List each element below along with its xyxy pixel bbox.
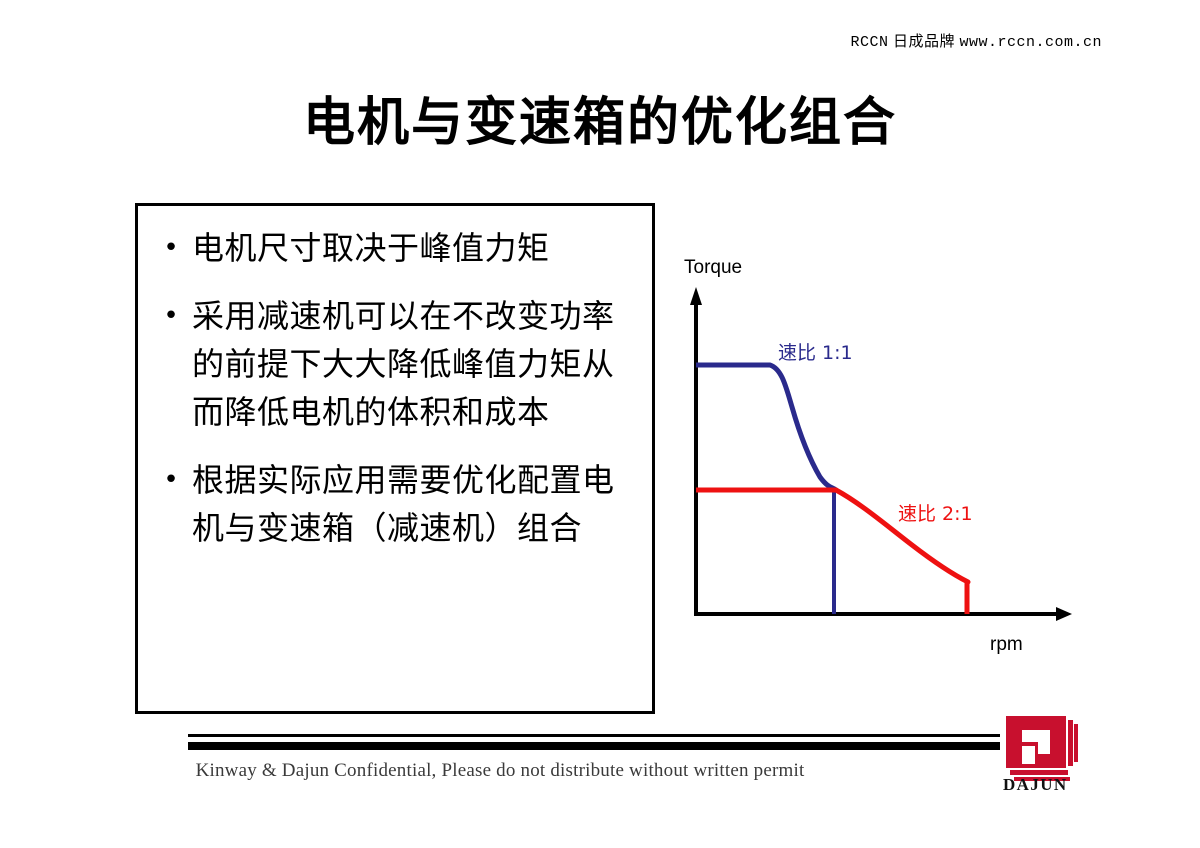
footer-divider-thin: [188, 734, 1000, 737]
header-brand-cjk: 日成品牌: [893, 32, 955, 50]
list-item: • 采用减速机可以在不改变功率的前提下大大降低峰值力矩从而降低电机的体积和成本: [150, 292, 638, 436]
x-axis-label: rpm: [990, 634, 1023, 655]
torque-speed-chart: Torque: [660, 245, 1100, 670]
list-item: • 根据实际应用需要优化配置电机与变速箱（减速机）组合: [150, 456, 638, 552]
header-brand-code: RCCN: [850, 34, 888, 51]
dajun-wordmark: DAJUN: [1003, 775, 1068, 792]
bullet-text: 采用减速机可以在不改变功率的前提下大大降低峰值力矩从而降低电机的体积和成本: [192, 292, 638, 436]
bullet-marker-icon: •: [150, 456, 192, 504]
bullet-text: 根据实际应用需要优化配置电机与变速箱（减速机）组合: [192, 456, 638, 552]
dajun-logo: DAJUN: [992, 712, 1088, 792]
bullet-text: 电机尺寸取决于峰值力矩: [192, 224, 638, 272]
series-label-ratio-1-1: 速比 1:1: [778, 342, 853, 364]
slide-canvas: RCCN 日成品牌 www.rccn.com.cn 电机与变速箱的优化组合 • …: [0, 0, 1200, 848]
footer-divider-thick: [188, 742, 1000, 750]
y-axis-label: Torque: [684, 257, 742, 278]
bullet-marker-icon: •: [150, 292, 192, 340]
page-title: 电机与变速箱的优化组合: [0, 80, 1200, 155]
header-brand: RCCN 日成品牌 www.rccn.com.cn: [850, 30, 1102, 51]
bullet-panel: • 电机尺寸取决于峰值力矩 • 采用减速机可以在不改变功率的前提下大大降低峰值力…: [135, 203, 655, 714]
y-axis: [690, 287, 702, 615]
series-label-ratio-2-1: 速比 2:1: [898, 503, 973, 525]
bullet-marker-icon: •: [150, 224, 192, 272]
dajun-mark-icon: [1006, 716, 1078, 781]
footer-confidential-text: Kinway & Dajun Confidential, Please do n…: [0, 760, 1000, 782]
header-brand-url: www.rccn.com.cn: [959, 34, 1102, 51]
bullet-list: • 电机尺寸取决于峰值力矩 • 采用减速机可以在不改变功率的前提下大大降低峰值力…: [138, 206, 652, 552]
list-item: • 电机尺寸取决于峰值力矩: [150, 224, 638, 272]
x-axis: [694, 607, 1072, 621]
